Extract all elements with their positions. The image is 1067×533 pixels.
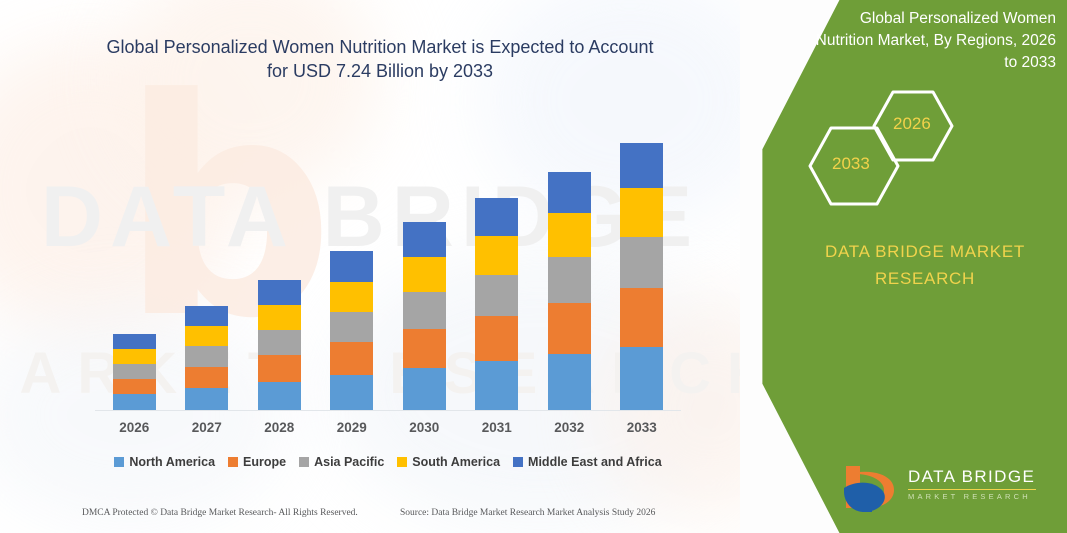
bar-segment[interactable] [185, 367, 228, 388]
bar-slot-2032 [533, 130, 606, 411]
legend-item[interactable]: North America [114, 455, 215, 469]
legend-label: Middle East and Africa [528, 455, 662, 469]
logo-text: DATA BRIDGE MARKET RESEARCH [908, 468, 1036, 501]
x-axis-line [95, 410, 681, 411]
legend-item[interactable]: Middle East and Africa [513, 455, 662, 469]
legend-item[interactable]: Europe [228, 455, 286, 469]
data-bridge-b-mark-icon [840, 462, 902, 514]
bar-segment[interactable] [185, 306, 228, 326]
legend-label: South America [412, 455, 500, 469]
stacked-bar-2032[interactable] [548, 172, 591, 411]
bar-segment[interactable] [185, 346, 228, 366]
x-axis-label-2026: 2026 [98, 420, 171, 435]
bar-segment[interactable] [620, 237, 663, 288]
panel-brand: DATA BRIDGE MARKET RESEARCH [790, 238, 1060, 292]
chart-legend: North AmericaEuropeAsia PacificSouth Ame… [98, 455, 678, 469]
stacked-bar-2033[interactable] [620, 143, 663, 411]
bar-segment[interactable] [620, 288, 663, 347]
chart-plot-area [98, 130, 678, 411]
bar-segment[interactable] [475, 316, 518, 361]
bar-segment[interactable] [258, 382, 301, 411]
bar-segment[interactable] [475, 198, 518, 236]
stacked-bar-2026[interactable] [113, 334, 156, 411]
bar-segment[interactable] [258, 355, 301, 382]
green-panel-content: Global Personalized Women Nutrition Mark… [700, 0, 1067, 533]
bar-segment[interactable] [403, 292, 446, 328]
x-axis-label-2028: 2028 [243, 420, 316, 435]
x-axis-labels: 20262027202820292030203120322033 [98, 420, 678, 435]
legend-label: North America [129, 455, 215, 469]
bar-slot-2027 [171, 130, 244, 411]
data-bridge-logo: DATA BRIDGE MARKET RESEARCH [840, 462, 1040, 518]
bar-segment[interactable] [113, 349, 156, 364]
legend-swatch-icon [114, 457, 124, 467]
bar-segment[interactable] [548, 172, 591, 213]
bar-segment[interactable] [330, 312, 373, 343]
bar-segment[interactable] [620, 188, 663, 236]
legend-label: Europe [243, 455, 286, 469]
bar-segment[interactable] [330, 375, 373, 411]
bar-segment[interactable] [403, 368, 446, 411]
legend-swatch-icon [397, 457, 407, 467]
bar-segment[interactable] [185, 388, 228, 411]
bar-segment[interactable] [113, 364, 156, 379]
logo-divider [908, 489, 1036, 490]
legend-item[interactable]: South America [397, 455, 500, 469]
legend-item[interactable]: Asia Pacific [299, 455, 384, 469]
stacked-bar-group [98, 130, 678, 411]
bar-segment[interactable] [185, 326, 228, 346]
bar-slot-2028 [243, 130, 316, 411]
legend-swatch-icon [228, 457, 238, 467]
bar-segment[interactable] [113, 334, 156, 350]
x-axis-label-2031: 2031 [461, 420, 534, 435]
footer-copyright: DMCA Protected © Data Bridge Market Rese… [82, 508, 358, 518]
bar-segment[interactable] [548, 257, 591, 303]
bar-slot-2031 [461, 130, 534, 411]
bar-segment[interactable] [403, 329, 446, 368]
bar-slot-2026 [98, 130, 171, 411]
bar-segment[interactable] [258, 305, 301, 330]
stacked-bar-2030[interactable] [403, 222, 446, 411]
x-axis-label-2029: 2029 [316, 420, 389, 435]
bar-segment[interactable] [113, 394, 156, 411]
legend-label: Asia Pacific [314, 455, 384, 469]
bar-segment[interactable] [403, 222, 446, 257]
logo-name: DATA BRIDGE [908, 468, 1036, 487]
bar-slot-2030 [388, 130, 461, 411]
hexagon-group: 2033 2026 [800, 88, 1060, 208]
hexagon-2026-label: 2026 [893, 114, 931, 134]
x-axis-label-2033: 2033 [606, 420, 679, 435]
logo-tagline: MARKET RESEARCH [908, 492, 1036, 501]
bar-slot-2029 [316, 130, 389, 411]
bar-segment[interactable] [475, 361, 518, 411]
bar-segment[interactable] [475, 236, 518, 275]
bar-slot-2033 [606, 130, 679, 411]
footer-source: Source: Data Bridge Market Research Mark… [400, 508, 655, 518]
bar-segment[interactable] [620, 347, 663, 411]
x-axis-label-2027: 2027 [171, 420, 244, 435]
stacked-bar-2029[interactable] [330, 251, 373, 411]
bar-segment[interactable] [548, 354, 591, 411]
bar-segment[interactable] [258, 280, 301, 305]
stacked-bar-2031[interactable] [475, 198, 518, 411]
legend-swatch-icon [299, 457, 309, 467]
bar-segment[interactable] [330, 251, 373, 281]
infographic-root: b DATA BRIDGE MARKET RESEARCH Global Per… [0, 0, 1067, 533]
x-axis-label-2032: 2032 [533, 420, 606, 435]
bar-segment[interactable] [475, 275, 518, 316]
bar-segment[interactable] [258, 330, 301, 356]
x-axis-label-2030: 2030 [388, 420, 461, 435]
panel-title: Global Personalized Women Nutrition Mark… [810, 8, 1056, 74]
bar-segment[interactable] [548, 303, 591, 354]
chart-title: Global Personalized Women Nutrition Mark… [95, 36, 665, 84]
bar-segment[interactable] [330, 342, 373, 375]
legend-swatch-icon [513, 457, 523, 467]
hexagon-2033-label: 2033 [832, 154, 870, 174]
bar-segment[interactable] [330, 282, 373, 312]
bar-segment[interactable] [403, 257, 446, 292]
bar-segment[interactable] [548, 213, 591, 257]
stacked-bar-2028[interactable] [258, 280, 301, 411]
bar-segment[interactable] [620, 143, 663, 188]
bar-segment[interactable] [113, 379, 156, 395]
stacked-bar-2027[interactable] [185, 306, 228, 411]
footer: DMCA Protected © Data Bridge Market Rese… [0, 505, 740, 527]
